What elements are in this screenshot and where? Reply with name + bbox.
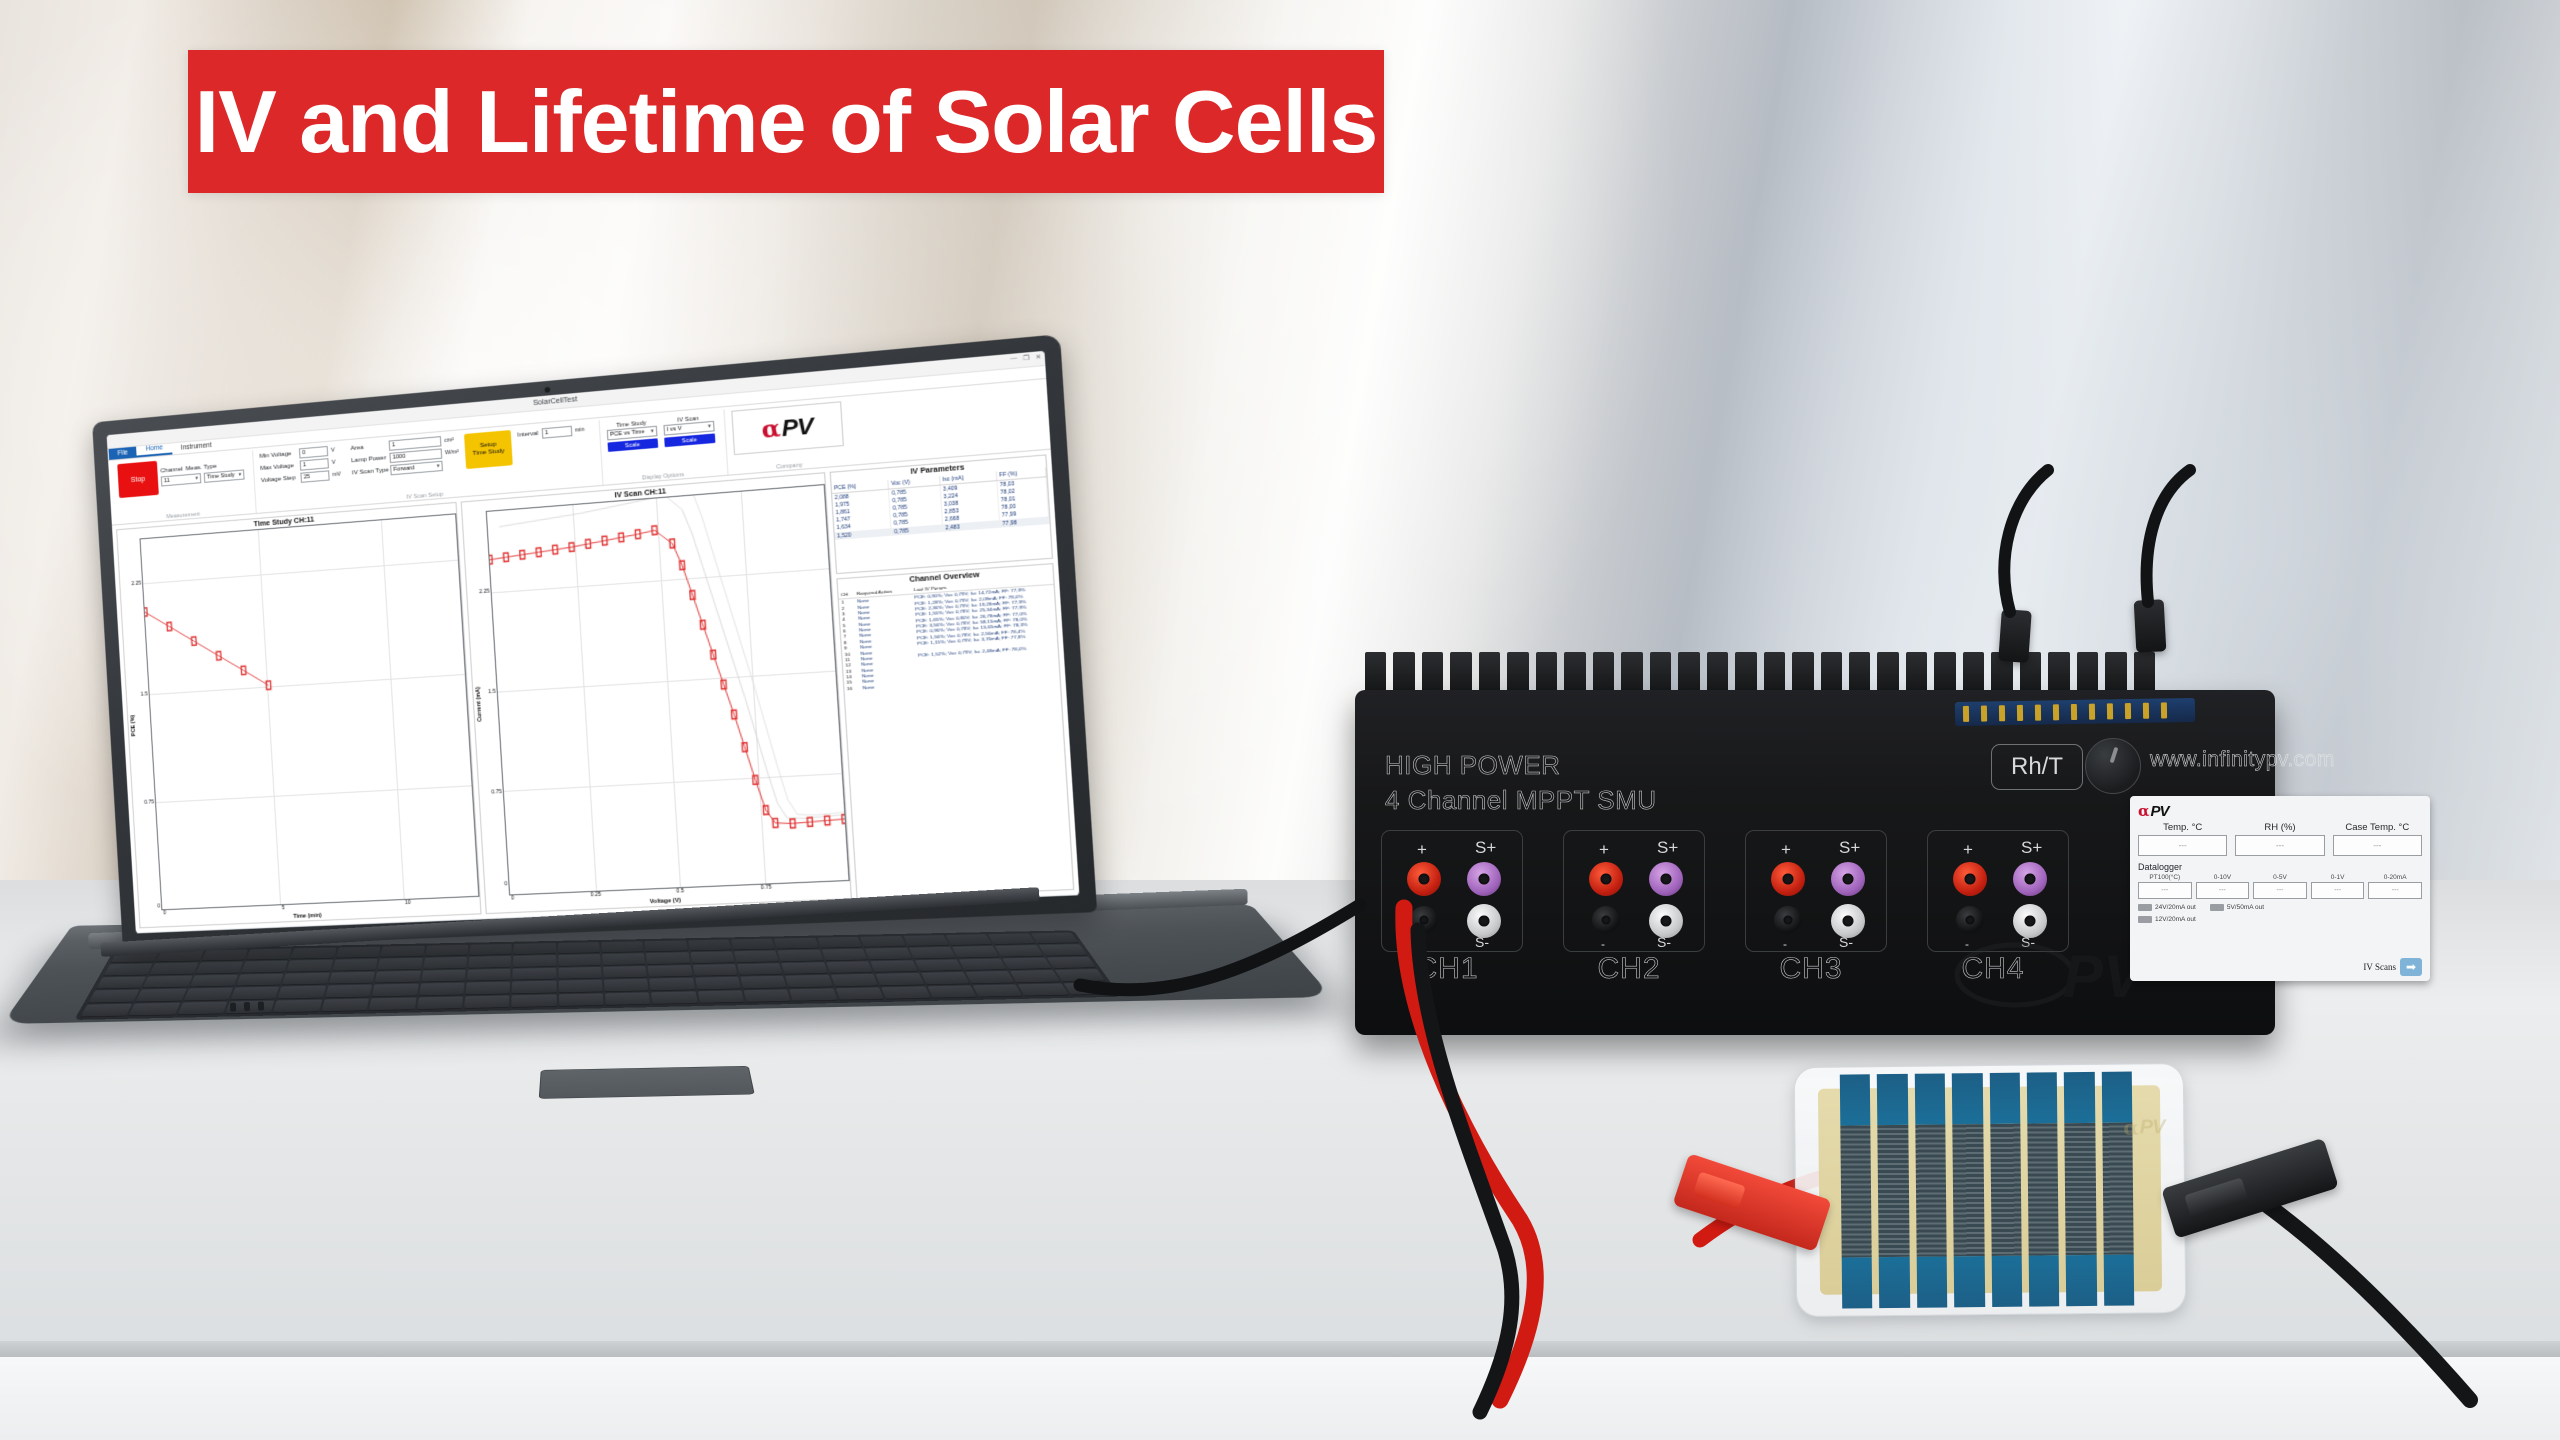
setup-time-study-button[interactable]: Setup Time Study bbox=[464, 430, 513, 469]
terminal-symbol-plus: + bbox=[1599, 840, 1609, 860]
cell-stripe bbox=[1915, 1073, 1948, 1307]
terminal-symbol-sense-plus: S+ bbox=[2021, 838, 2042, 858]
cable-plug-left bbox=[1998, 609, 2032, 663]
smu-label-line2: 4 Channel MPPT SMU bbox=[1385, 783, 1657, 818]
datalogger-value: --- bbox=[2311, 882, 2365, 899]
xtick: 0.75 bbox=[761, 884, 772, 891]
terminal-symbol-sense-minus: S- bbox=[1839, 934, 1853, 950]
cell-stripe bbox=[1989, 1073, 2022, 1307]
ytick: 0 bbox=[157, 904, 160, 910]
ytick: 0.75 bbox=[491, 788, 502, 795]
rh-t-sensor-label: Rh/T bbox=[1991, 744, 2083, 790]
jack-ch2-plus[interactable] bbox=[1589, 862, 1623, 896]
photo-scene: SolarCellTest — ❐ ✕ File Home Instrument bbox=[0, 0, 2560, 1440]
terminal-symbol-minus: - bbox=[1419, 937, 1423, 951]
logo-alpha: α bbox=[761, 415, 782, 444]
iv-parameters-panel: IV Parameters PCE (%)Voc (V)Isc (mA)FF (… bbox=[830, 454, 1053, 574]
channel-label-ch1: CH1 bbox=[1377, 952, 1517, 986]
time-study-scale-button[interactable]: Scale bbox=[607, 438, 658, 452]
panel-logo-alpha: α bbox=[2138, 802, 2150, 820]
meas-type-value: Time Study bbox=[207, 472, 235, 480]
cell-logo-pv: PV bbox=[2140, 1116, 2165, 1139]
time-study-chart: Time Study CH:11 PCE (%) 2.25 1.5 0.75 0 bbox=[116, 502, 481, 928]
page-title: IV and Lifetime of Solar Cells bbox=[195, 78, 1378, 166]
datalogger-value: --- bbox=[2138, 882, 2192, 899]
meter-label: Temp. °C bbox=[2138, 822, 2227, 833]
datalogger-label: 0-10V bbox=[2196, 874, 2250, 881]
taskbar-clock[interactable]: 11:57 AM 7/8/2022 bbox=[1056, 898, 1078, 909]
interval-label: Interval bbox=[517, 431, 538, 439]
time-study-plot[interactable] bbox=[139, 513, 479, 910]
jack-ch1-plus[interactable] bbox=[1407, 862, 1441, 896]
jack-ch3-sense-plus[interactable] bbox=[1831, 862, 1865, 896]
max-voltage-unit: V bbox=[332, 459, 346, 466]
channel-select[interactable]: 11 ▾ bbox=[161, 473, 202, 486]
voltage-step-label: Voltage Step bbox=[261, 475, 298, 484]
channel-block-ch1[interactable] bbox=[1381, 830, 1523, 952]
output-row-2[interactable]: 12V/20mA out bbox=[2138, 916, 2422, 923]
channel-label-ch3: CH3 bbox=[1741, 952, 1881, 986]
cell-stripe bbox=[2101, 1072, 2134, 1306]
ytick: 2.25 bbox=[479, 589, 490, 596]
cell-logo-alpha: α bbox=[2123, 1115, 2139, 1139]
jack-ch4-sense-minus[interactable] bbox=[2013, 904, 2047, 938]
panel-meter: RH (%)--- bbox=[2235, 822, 2324, 856]
jack-ch1-sense-plus[interactable] bbox=[1467, 862, 1501, 896]
right-panels: IV Parameters PCE (%)Voc (V)Isc (mA)FF (… bbox=[830, 454, 1075, 899]
datalogger-channel: 0-20mA--- bbox=[2368, 874, 2422, 899]
setup-time-study-label: Setup Time Study bbox=[472, 441, 505, 458]
mppt-smu-device: HIGH POWER 4 Channel MPPT SMU Rh/T + S+ … bbox=[1355, 690, 2275, 1035]
terminal-symbol-sense-minus: S- bbox=[1475, 934, 1489, 950]
output-label: 12V/20mA out bbox=[2155, 916, 2196, 923]
ribbon-group-company: αPV Company bbox=[723, 399, 852, 475]
ytick: 0 bbox=[504, 881, 507, 887]
voltage-step-input[interactable]: 25 bbox=[300, 470, 329, 483]
max-voltage-input[interactable]: 1 bbox=[300, 458, 329, 471]
lamp-power-unit: W/m² bbox=[445, 449, 459, 456]
ribbon-group-measurement: Stop Channel Meas. Type 11 bbox=[111, 451, 252, 525]
interval-input[interactable]: 1 bbox=[541, 426, 572, 439]
channel-label-ch2: CH2 bbox=[1559, 952, 1699, 986]
datalogger-label: 0-5V bbox=[2253, 874, 2307, 881]
laptop-display: SolarCellTest — ❐ ✕ File Home Instrument bbox=[107, 351, 1080, 934]
datalogger-title: Datalogger bbox=[2138, 862, 2422, 872]
min-voltage-input[interactable]: 0 bbox=[299, 446, 328, 459]
smu-website-url: www.infinitypv.com bbox=[2150, 748, 2335, 772]
infinitypv-logo: αPV bbox=[731, 401, 844, 455]
webcam-icon bbox=[545, 387, 551, 393]
terminal-symbol-plus: + bbox=[1963, 840, 1973, 860]
smu-label-line1: HIGH POWER bbox=[1385, 748, 1657, 783]
xtick: 5 bbox=[282, 905, 285, 911]
cell-stripe bbox=[1877, 1074, 1910, 1308]
minimize-icon[interactable]: — bbox=[1010, 355, 1017, 363]
app-title: SolarCellTest bbox=[533, 396, 578, 407]
iv-scan-plot-area: Current (mA) 2.25 1.5 0.75 0 bbox=[462, 484, 849, 897]
terminal-symbol-plus: + bbox=[1781, 840, 1791, 860]
panel-logo: αPV bbox=[2138, 802, 2422, 820]
clock-date: 7/8/2022 bbox=[1056, 903, 1078, 909]
xtick: 10 bbox=[405, 900, 411, 906]
maximize-icon[interactable]: ❐ bbox=[1023, 354, 1030, 362]
output-toggle[interactable]: 24V/20mA out bbox=[2138, 904, 2196, 911]
jack-ch2-sense-plus[interactable] bbox=[1649, 862, 1683, 896]
datalogger-value: --- bbox=[2253, 882, 2307, 899]
datalogger-label: PT100(°C) bbox=[2138, 874, 2192, 881]
panel-meter-row: Temp. °C---RH (%)---Case Temp. °C--- bbox=[2138, 822, 2422, 856]
app-body: Time Study CH:11 PCE (%) 2.25 1.5 0.75 0 bbox=[112, 450, 1079, 933]
terminal-symbol-sense-plus: S+ bbox=[1657, 838, 1678, 858]
output-row-1[interactable]: 24V/20mA out5V/50mA out bbox=[2138, 904, 2422, 911]
rh-t-sensor-knob[interactable] bbox=[2085, 738, 2141, 794]
meter-label: Case Temp. °C bbox=[2333, 822, 2422, 833]
iv-scan-type-label: IV Scan Type bbox=[352, 467, 388, 476]
chevron-down-icon: ▾ bbox=[195, 475, 198, 481]
ytick: 2.25 bbox=[131, 580, 141, 587]
panel-logo-pv: PV bbox=[2151, 803, 2169, 820]
jack-ch3-plus[interactable] bbox=[1771, 862, 1805, 896]
min-voltage-unit: V bbox=[331, 447, 345, 454]
opv-solar-cell-module: αPV bbox=[1794, 1063, 2187, 1317]
ribbon-group-display-options: Time Study PCE vs Time ▾ Scale IV Scan bbox=[598, 410, 724, 485]
datalogger-value: --- bbox=[2368, 882, 2422, 899]
datalogger-label: 0-20mA bbox=[2368, 874, 2422, 881]
toggle-switch-icon[interactable] bbox=[2138, 916, 2152, 923]
display-iv-scan: IV Scan I vs V ▾ Scale bbox=[663, 414, 715, 447]
channel-block-ch3[interactable] bbox=[1745, 830, 1887, 952]
clock-time: 11:57 AM bbox=[1056, 898, 1078, 904]
iv-scan-plot[interactable] bbox=[486, 484, 850, 896]
datalogger-value: --- bbox=[2196, 882, 2250, 899]
xtick: 0 bbox=[511, 895, 514, 901]
cable-plug-right bbox=[2134, 599, 2167, 652]
stop-button[interactable]: Stop bbox=[117, 461, 159, 498]
meas-type-select[interactable]: Time Study ▾ bbox=[204, 469, 245, 482]
terminal-symbol-minus: - bbox=[1601, 937, 1605, 951]
cell-stripe bbox=[2027, 1072, 2060, 1306]
area-unit: cm² bbox=[444, 437, 458, 444]
datalogger-channel: 0-10V--- bbox=[2196, 874, 2250, 899]
iv-scan-scale-button[interactable]: Scale bbox=[664, 433, 715, 447]
jack-ch2-sense-minus[interactable] bbox=[1649, 904, 1683, 938]
jack-ch1-minus[interactable] bbox=[1410, 906, 1438, 934]
xtick: 0.5 bbox=[676, 888, 684, 895]
laptop-trackpad[interactable] bbox=[539, 1066, 755, 1099]
terminal-symbol-sense-plus: S+ bbox=[1475, 838, 1496, 858]
jack-ch4-plus[interactable] bbox=[1953, 862, 1987, 896]
iv-scans-label: IV Scans bbox=[2363, 962, 2396, 972]
max-voltage-label: Max Voltage bbox=[260, 463, 297, 472]
measurement-row: Stop Channel Meas. Type 11 bbox=[117, 453, 245, 498]
meter-label: RH (%) bbox=[2235, 822, 2324, 833]
smu-model-label: HIGH POWER 4 Channel MPPT SMU bbox=[1385, 748, 1657, 818]
channel-overview-table[interactable]: CHRequired ActionLast IV Param. 1NonePCE… bbox=[838, 576, 1059, 691]
arrow-right-icon[interactable]: ➡ bbox=[2400, 958, 2422, 976]
iv-scan-value: I vs V bbox=[666, 426, 682, 434]
lamp-power-label: Lamp Power bbox=[351, 455, 387, 464]
laptop: SolarCellTest — ❐ ✕ File Home Instrument bbox=[60, 395, 1320, 1135]
connector-terminal-block bbox=[1955, 698, 2195, 726]
meter-value: --- bbox=[2138, 835, 2227, 856]
channel-block-ch2[interactable] bbox=[1563, 830, 1705, 952]
cell-stripe bbox=[2064, 1072, 2097, 1306]
smu-chassis: HIGH POWER 4 Channel MPPT SMU Rh/T + S+ … bbox=[1355, 690, 2275, 1035]
chevron-down-icon: ▾ bbox=[437, 463, 440, 469]
jack-ch3-minus[interactable] bbox=[1774, 906, 1802, 934]
datalogger-channel: 0-5V--- bbox=[2253, 874, 2307, 899]
meter-value: --- bbox=[2235, 835, 2324, 856]
close-icon[interactable]: ✕ bbox=[1035, 353, 1041, 361]
display-time-study: Time Study PCE vs Time ▾ Scale bbox=[606, 419, 658, 452]
channel-label: Channel bbox=[160, 467, 183, 475]
terminal-symbol-plus: + bbox=[1417, 840, 1427, 860]
jack-ch4-minus[interactable] bbox=[1956, 906, 1984, 934]
iv-scan-type-select[interactable]: Forward ▾ bbox=[390, 461, 443, 476]
jack-ch3-sense-minus[interactable] bbox=[1831, 904, 1865, 938]
ytick: 1.5 bbox=[488, 688, 496, 695]
time-study-value: PCE vs Time bbox=[610, 429, 645, 438]
area-label: Area bbox=[350, 443, 386, 452]
time-study-plot-area: PCE (%) 2.25 1.5 0.75 0 bbox=[118, 513, 480, 911]
output-label: 5V/50mA out bbox=[2227, 904, 2264, 911]
meter-value: --- bbox=[2333, 835, 2422, 856]
datalogger-grid: PT100(°C)---0-10V---0-5V---0-1V---0-20mA… bbox=[2138, 874, 2422, 899]
cell-stripe bbox=[1840, 1074, 1873, 1308]
smu-front-panel[interactable]: αPV Temp. °C---RH (%)---Case Temp. °C---… bbox=[2130, 796, 2430, 981]
iv-scans-button[interactable]: IV Scans ➡ bbox=[2363, 958, 2422, 976]
channel-value: 11 bbox=[164, 478, 170, 484]
channel-number: 16 bbox=[844, 685, 860, 692]
jack-ch2-minus[interactable] bbox=[1592, 906, 1620, 934]
cell-active-stripes bbox=[1840, 1072, 2134, 1309]
toggle-switch-icon[interactable] bbox=[2210, 904, 2224, 911]
datalogger-label: 0-1V bbox=[2311, 874, 2365, 881]
toggle-switch-icon[interactable] bbox=[2138, 904, 2152, 911]
laptop-lid: SolarCellTest — ❐ ✕ File Home Instrument bbox=[92, 334, 1097, 950]
cell-stripe bbox=[1952, 1073, 1985, 1307]
panel-meter: Temp. °C--- bbox=[2138, 822, 2227, 856]
channel-block-ch4[interactable] bbox=[1927, 830, 2069, 952]
jack-ch4-sense-plus[interactable] bbox=[2013, 862, 2047, 896]
cell-logo: αPV bbox=[2123, 1115, 2164, 1139]
panel-meter: Case Temp. °C--- bbox=[2333, 822, 2422, 856]
terminal-symbol-sense-plus: S+ bbox=[1839, 838, 1860, 858]
xtick: 0 bbox=[163, 910, 166, 916]
xtick: 0.25 bbox=[590, 892, 601, 899]
desk-front-face bbox=[0, 1357, 2560, 1440]
title-banner: IV and Lifetime of Solar Cells bbox=[188, 50, 1384, 193]
iv-scan-type-value: Forward bbox=[393, 465, 414, 473]
logo-pv: PV bbox=[781, 412, 813, 442]
terminal-symbol-minus: - bbox=[1783, 937, 1787, 951]
ytick: 0.75 bbox=[144, 799, 154, 806]
chevron-down-icon: ▾ bbox=[708, 423, 711, 430]
chevron-down-icon: ▾ bbox=[651, 428, 654, 435]
min-voltage-label: Min Voltage bbox=[259, 451, 296, 460]
window-controls[interactable]: — ❐ ✕ bbox=[1010, 353, 1041, 363]
interval-unit: min bbox=[575, 426, 589, 433]
desk-edge bbox=[0, 1341, 2560, 1357]
datalogger-channel: 0-1V--- bbox=[2311, 874, 2365, 899]
output-toggle[interactable]: 12V/20mA out bbox=[2138, 916, 2196, 923]
iv-scan-chart: IV Scan CH:11 Current (mA) 2.25 1.5 0.75… bbox=[461, 472, 852, 914]
output-toggle[interactable]: 5V/50mA out bbox=[2210, 904, 2264, 911]
chevron-down-icon: ▾ bbox=[239, 472, 242, 478]
output-label: 24V/20mA out bbox=[2155, 904, 2196, 911]
solarcelltest-app: SolarCellTest — ❐ ✕ File Home Instrument bbox=[107, 351, 1080, 934]
jack-ch1-sense-minus[interactable] bbox=[1467, 904, 1501, 938]
channel-overview-panel: Channel Overview CHRequired ActionLast I… bbox=[836, 563, 1074, 899]
datalogger-channel: PT100(°C)--- bbox=[2138, 874, 2192, 899]
voltage-step-unit: mV bbox=[332, 471, 346, 478]
terminal-symbol-sense-minus: S- bbox=[1657, 934, 1671, 950]
ytick: 1.5 bbox=[141, 692, 148, 698]
network-icon[interactable] bbox=[1044, 899, 1053, 909]
